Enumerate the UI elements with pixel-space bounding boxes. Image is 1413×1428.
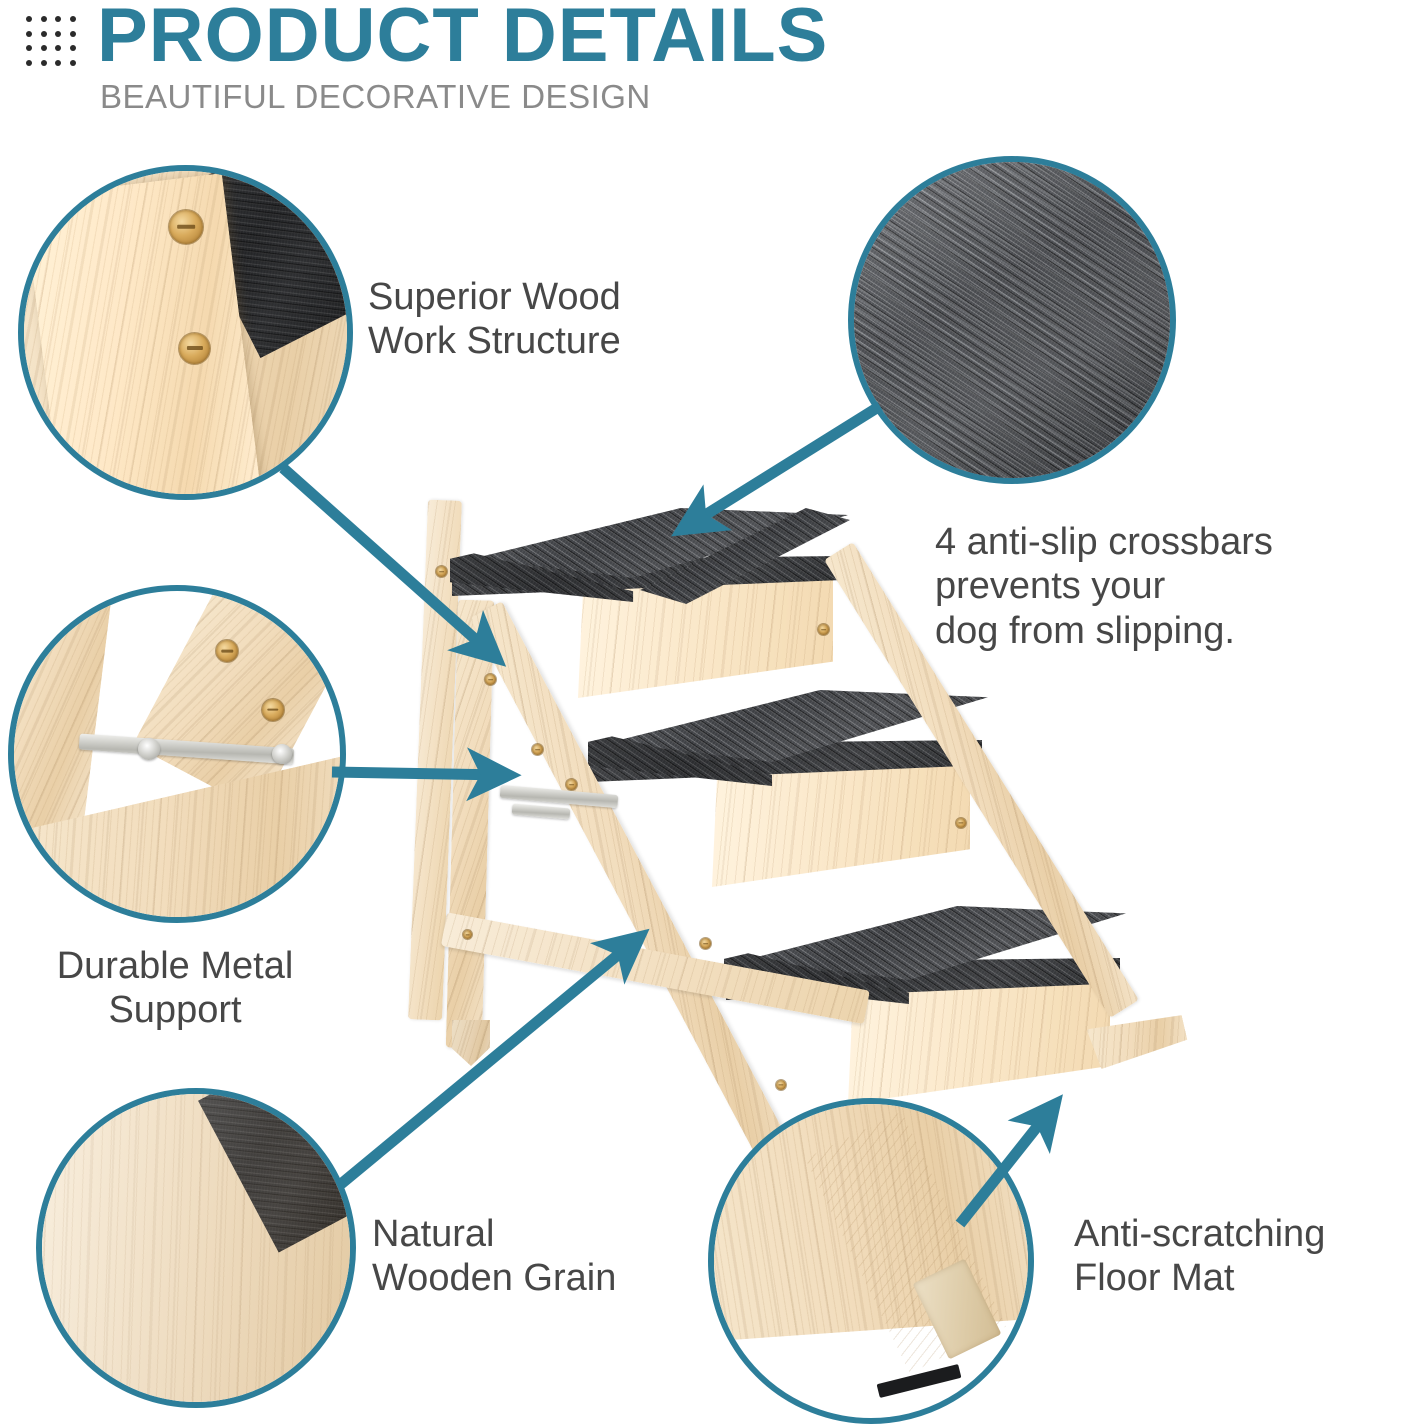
label-line: dog from slipping.: [935, 609, 1273, 653]
label-line: Anti-scratching: [1074, 1212, 1325, 1256]
callout-label-anti-slip-crossbars: 4 anti-slip crossbars prevents your dog …: [935, 520, 1273, 653]
label-line: Durable Metal: [10, 944, 340, 988]
label-line: prevents your: [935, 564, 1273, 608]
arrow-superior-wood-work-structure: [283, 468, 493, 655]
arrow-durable-metal-support: [332, 772, 504, 775]
arrow-anti-slip-crossbars: [686, 406, 880, 527]
callout-label-anti-scratching-floor-mat: Anti-scratching Floor Mat: [1074, 1212, 1325, 1301]
label-line: 4 anti-slip crossbars: [935, 520, 1273, 564]
label-line: Superior Wood: [368, 275, 621, 319]
callout-label-superior-wood-work-structure: Superior Wood Work Structure: [368, 275, 621, 364]
label-line: Work Structure: [368, 319, 621, 363]
callout-label-durable-metal-support: Durable Metal Support: [10, 944, 340, 1033]
callout-label-natural-wooden-grain: Natural Wooden Grain: [372, 1212, 616, 1301]
arrow-natural-wooden-grain: [341, 940, 636, 1184]
label-line: Floor Mat: [1074, 1256, 1325, 1300]
label-line: Wooden Grain: [372, 1256, 616, 1300]
arrow-anti-scratching-floor-mat: [960, 1108, 1052, 1224]
label-line: Support: [10, 988, 340, 1032]
label-line: Natural: [372, 1212, 616, 1256]
